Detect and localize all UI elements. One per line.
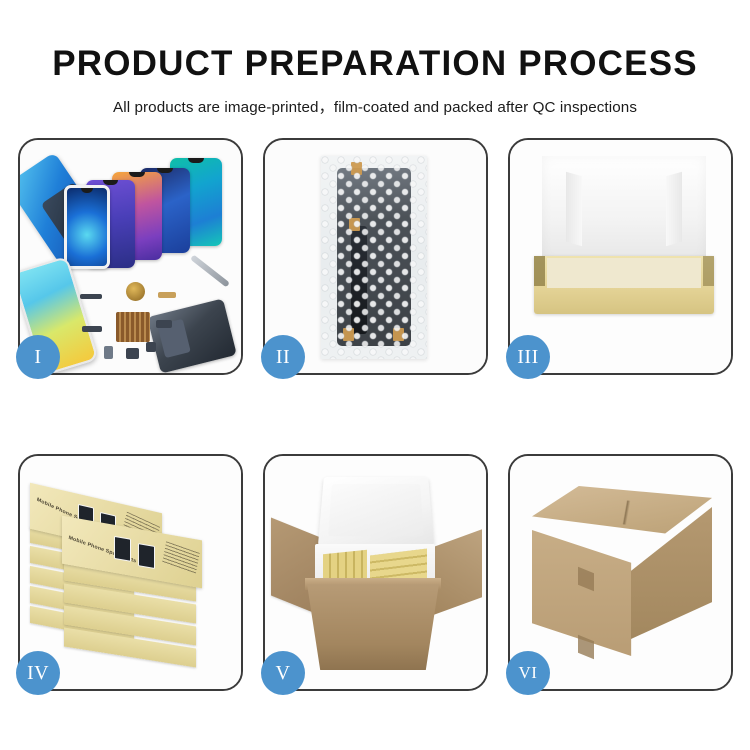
sealed-carton [532, 486, 712, 664]
header: PRODUCT PREPARATION PROCESS All products… [0, 0, 750, 117]
step-1-badge: I [16, 335, 60, 379]
inner-box-lid [542, 156, 706, 262]
screw-part-icon [146, 342, 156, 352]
step-3-image [510, 140, 731, 373]
page-title: PRODUCT PREPARATION PROCESS [0, 44, 750, 84]
vibrator-part-icon [126, 348, 139, 359]
logic-board-icon [116, 312, 150, 342]
lid-flap-right [666, 172, 682, 247]
box-corner-right [703, 256, 714, 286]
step-4-badge: IV [16, 651, 60, 695]
process-step-3: III [508, 138, 733, 375]
process-step-grid: I II [18, 138, 732, 691]
step-1-image [20, 140, 241, 373]
box-corner-left [534, 256, 545, 286]
process-step-2: II [263, 138, 488, 375]
carton-flap-right [434, 529, 482, 614]
bubble-texture-highlight [321, 156, 427, 359]
box-phone-image [114, 536, 131, 562]
process-step-5: V [263, 454, 488, 691]
step-5-badge: V [261, 651, 305, 695]
bubble-wrap-bag [321, 156, 427, 359]
process-step-1: I [18, 138, 243, 375]
box-inner-cavity [547, 258, 701, 288]
spare-parts-group [80, 280, 200, 370]
step-2-badge: II [261, 335, 305, 379]
lid-flap-left [566, 172, 582, 247]
box-stack: Mobile Phone Spare Parts Mobile Phone Sp… [26, 480, 238, 680]
flex-cable-part-icon [82, 326, 102, 332]
carton-body [307, 584, 439, 670]
box-spec-lines [162, 541, 199, 574]
sim-tray-icon [104, 346, 113, 359]
foam-lid [318, 477, 434, 547]
process-step-4: Mobile Phone Spare Parts Mobile Phone Sp… [18, 454, 243, 691]
step-6-image [510, 456, 731, 689]
step-4-image: Mobile Phone Spare Parts Mobile Phone Sp… [20, 456, 241, 689]
product-preparation-infographic: PRODUCT PREPARATION PROCESS All products… [0, 0, 750, 750]
box-phone-image [138, 543, 155, 569]
step-6-badge: VI [506, 651, 550, 695]
inner-box-base [534, 256, 714, 314]
phone-glass-icon [64, 185, 110, 269]
process-step-6: VI [508, 454, 733, 691]
step-2-image [265, 140, 486, 373]
step-3-badge: III [506, 335, 550, 379]
step-5-image [265, 456, 486, 689]
button-part-icon [156, 320, 172, 328]
connector-part-icon [158, 292, 176, 298]
page-subtitle: All products are image-printed，film-coat… [0, 95, 750, 117]
camera-module-icon [126, 282, 145, 301]
speaker-part-icon [80, 294, 102, 299]
